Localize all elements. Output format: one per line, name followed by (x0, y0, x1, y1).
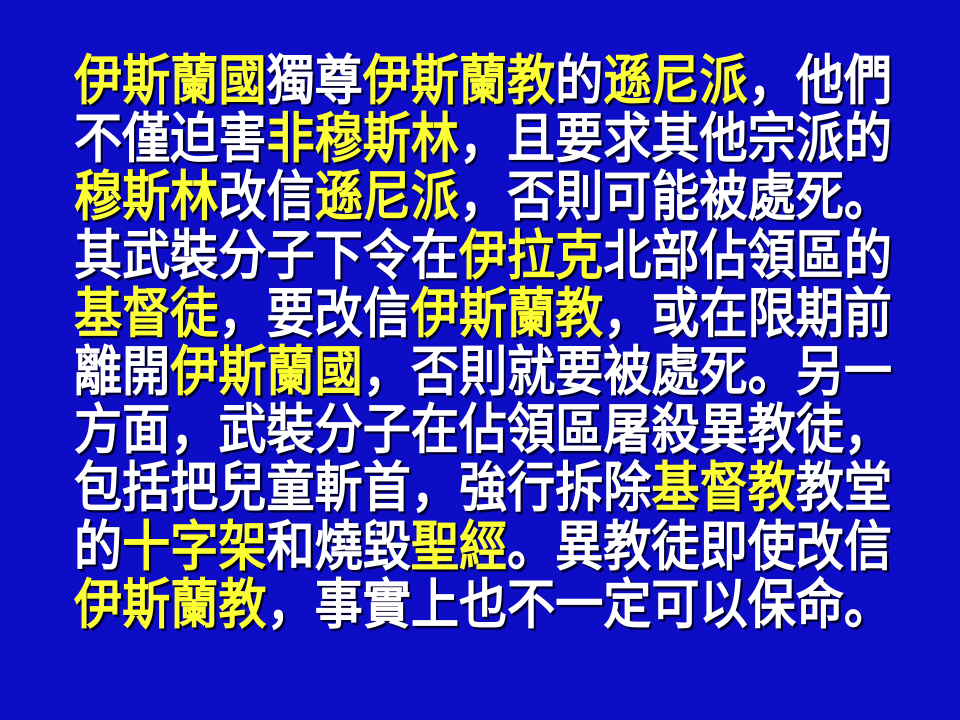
highlighted-term: 遜尼派 (603, 49, 747, 112)
body-text-run: 不僅迫害 (74, 107, 266, 170)
body-text-run: 包括把兒童斬首，強行拆除 (74, 456, 651, 519)
body-text-run: 其武裝分子下令在 (74, 224, 459, 287)
highlighted-term: 伊斯蘭教 (363, 49, 555, 112)
body-text-run: 和燒毀 (266, 515, 410, 578)
text-line: 穆斯林改信遜尼派，否則可能被處死。 (74, 168, 803, 226)
body-text-run: ，要改信 (218, 282, 410, 345)
highlighted-term: 基督徒 (74, 282, 218, 345)
body-text-run: 方面，武裝分子在佔領區屠殺異教徒， (74, 398, 892, 461)
text-line: 的十字架和燒毀聖經。異教徒即使改信 (74, 518, 803, 576)
body-text-run: ，否則就要被處死。另一 (363, 340, 892, 403)
body-text-run: ，他們 (748, 49, 892, 112)
highlighted-term: 伊拉克 (459, 224, 603, 287)
body-text-run: 獨尊 (266, 49, 362, 112)
slide-canvas: 伊斯蘭國獨尊伊斯蘭教的遜尼派，他們不僅迫害非穆斯林，且要求其他宗派的穆斯林改信遜… (0, 0, 960, 720)
highlighted-term: 伊斯蘭國 (74, 49, 266, 112)
highlighted-term: 伊斯蘭教 (74, 573, 266, 636)
body-text-run: 北部佔領區的 (603, 224, 892, 287)
text-line: 方面，武裝分子在佔領區屠殺異教徒， (74, 401, 803, 459)
body-text-run: ，且要求其他宗派的 (459, 107, 892, 170)
body-text-run: ，或在限期前 (603, 282, 892, 345)
body-text-run: ，否則可能被處死。 (459, 165, 892, 228)
text-line: 離開伊斯蘭國，否則就要被處死。另一 (74, 343, 803, 401)
body-text-run: 的 (555, 49, 603, 112)
highlighted-term: 伊斯蘭教 (411, 282, 603, 345)
text-line: 基督徒，要改信伊斯蘭教，或在限期前 (74, 285, 803, 343)
text-line: 包括把兒童斬首，強行拆除基督教教堂 (74, 459, 803, 517)
body-text-run: 。異教徒即使改信 (507, 515, 892, 578)
text-line: 伊斯蘭教，事實上也不一定可以保命。 (74, 576, 803, 634)
text-line: 不僅迫害非穆斯林，且要求其他宗派的 (74, 110, 803, 168)
highlighted-term: 聖經 (411, 515, 507, 578)
highlighted-term: 非穆斯林 (266, 107, 458, 170)
highlighted-term: 遜尼派 (315, 165, 459, 228)
slide-body-text: 伊斯蘭國獨尊伊斯蘭教的遜尼派，他們不僅迫害非穆斯林，且要求其他宗派的穆斯林改信遜… (74, 52, 892, 662)
highlighted-term: 伊斯蘭國 (170, 340, 362, 403)
body-text-run: 離開 (74, 340, 170, 403)
body-text-run: 的 (74, 515, 122, 578)
text-line: 其武裝分子下令在伊拉克北部佔領區的 (74, 227, 803, 285)
highlighted-term: 十字架 (122, 515, 266, 578)
highlighted-term: 穆斯林 (74, 165, 218, 228)
body-text-run: ，事實上也不一定可以保命。 (266, 573, 892, 636)
body-text-run: 改信 (218, 165, 314, 228)
body-text-run: 教堂 (796, 456, 892, 519)
highlighted-term: 基督教 (651, 456, 795, 519)
text-line: 伊斯蘭國獨尊伊斯蘭教的遜尼派，他們 (74, 52, 803, 110)
